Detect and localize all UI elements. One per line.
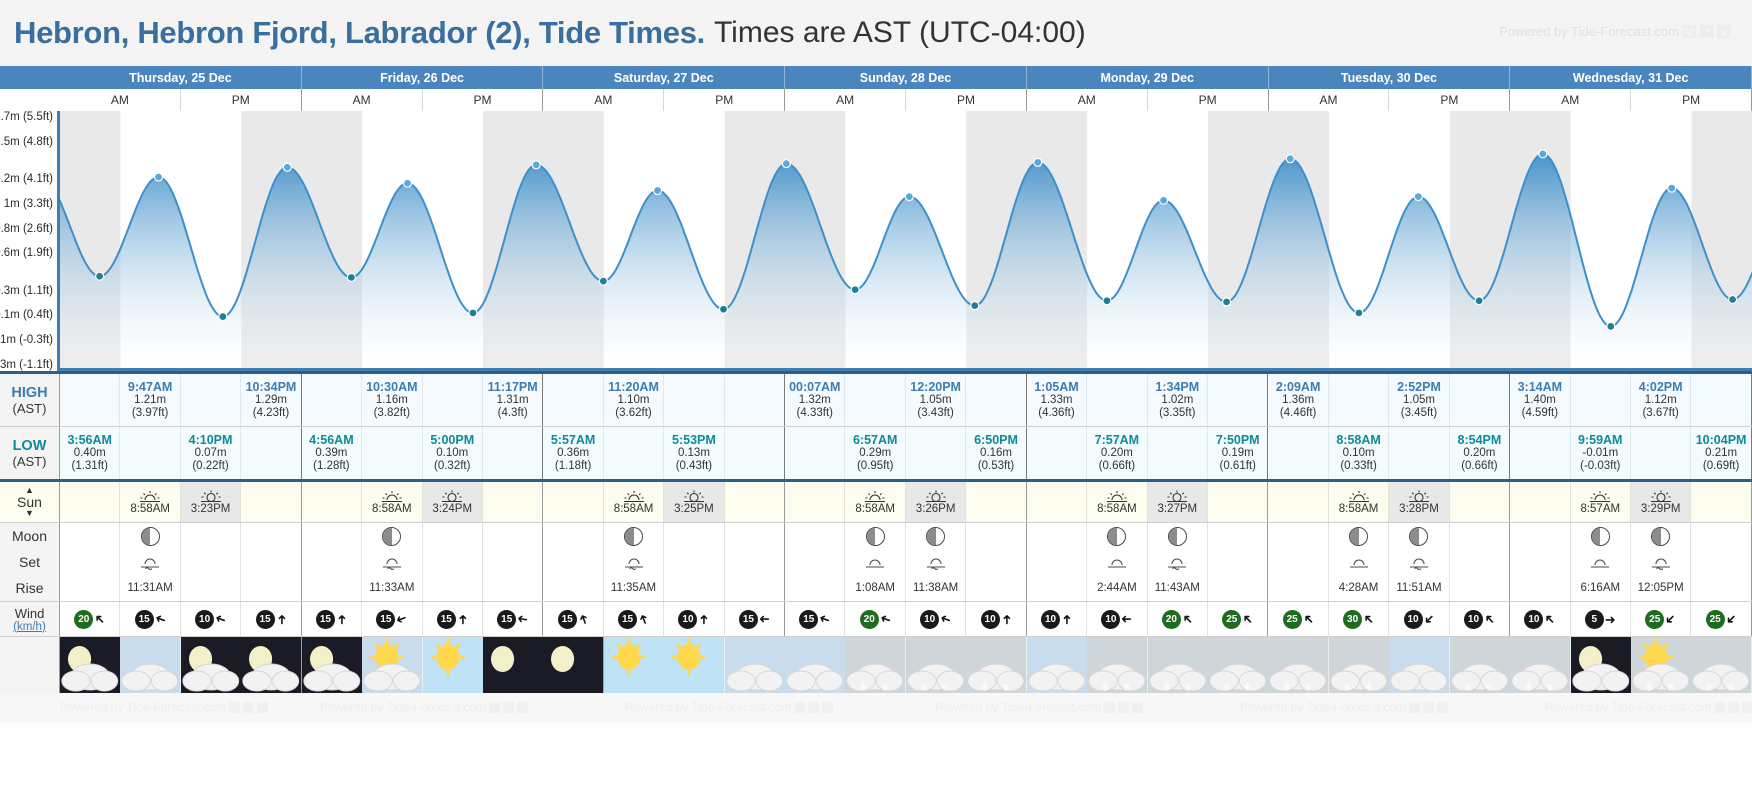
moon-phase-icon: [1409, 527, 1428, 546]
sunrise-time: 8:58AM: [130, 503, 170, 515]
sun-cell-3-3: [966, 482, 1026, 522]
footer-watermark-icon-1: [489, 702, 500, 713]
weather-cell-3-1: ❄❄: [845, 637, 905, 693]
svg-text:❄: ❄: [1304, 681, 1312, 693]
wind-direction-arrow-icon: ➜: [91, 611, 108, 628]
svg-text:❄: ❄: [981, 681, 989, 693]
moon-glyph-cell-4-3: [1208, 549, 1268, 575]
wind-cell-1-0: 15➜: [302, 602, 362, 636]
weather-icon-sunny: [604, 637, 664, 693]
moonrise-time: 2:44AM: [1097, 582, 1137, 594]
moon-phase-cell-0-3: [241, 523, 301, 549]
high-height-m: 1.32m: [799, 394, 831, 407]
sun-cell-5-0: [1268, 482, 1328, 522]
wind-cell-0-2: 10➜: [181, 602, 241, 636]
wind-cell-5-2: 10➜: [1389, 602, 1449, 636]
moon-phase-cell-3-0: [785, 523, 845, 549]
svg-text:❄: ❄: [1464, 681, 1472, 693]
low-cell-3-1: 6:57AM0.29m(0.95ft): [845, 427, 905, 479]
weather-icon-snow: ❄❄: [1450, 637, 1510, 693]
weather-icon-partly-cloudy: [362, 637, 422, 693]
low-cell-4-1: 7:57AM0.20m(0.66ft): [1087, 427, 1147, 479]
tide-high-marker-9: [654, 187, 662, 195]
svg-text:❄: ❄: [881, 681, 889, 693]
weather-cell-2-2: [664, 637, 724, 693]
weather-icon-night-cloudy: [1571, 637, 1631, 693]
high-height-m: 1.10m: [618, 394, 650, 407]
moon-phase-cell-5-1: [1329, 523, 1389, 549]
sun-cell-1-0: [302, 482, 362, 522]
moon-phase-cell-2-3: [725, 523, 785, 549]
moon-glyph-cell-3-1: [845, 549, 905, 575]
ampm-cell-3-pm: PM: [906, 89, 1027, 111]
low-cell-4-3: 7:50PM0.19m(0.61ft): [1208, 427, 1268, 479]
weather-cell-4-2: ❄❄: [1148, 637, 1208, 693]
low-time: 3:56AM: [67, 433, 111, 447]
high-height-ft: (4.36ft): [1038, 407, 1074, 420]
high-tide-cells: 9:47AM1.21m(3.97ft)10:34PM1.29m(4.23ft)1…: [60, 374, 1752, 426]
weather-icon-snow: ❄❄: [1691, 637, 1751, 693]
high-tide-label: HIGH (AST): [0, 374, 60, 426]
moon-label-text: Moon: [12, 528, 47, 544]
moon-time-cell-4-2: 11:43AM: [1148, 575, 1208, 601]
moon-glyph-cell-6-3: [1691, 549, 1751, 575]
svg-text:❄: ❄: [1162, 681, 1170, 693]
footer-watermark-2: Powered by Tide-Forecast.com: [625, 700, 833, 714]
high-height-ft: (3.35ft): [1159, 407, 1195, 420]
tide-low-marker-4: [347, 273, 355, 281]
sun-cell-1-1: 8:58AM: [362, 482, 422, 522]
weather-icon-cloudy: [120, 637, 180, 693]
sunset-time: 3:24PM: [432, 503, 472, 515]
wind-speed-badge: 10: [981, 610, 1000, 629]
low-cell-1-3: [483, 427, 543, 479]
low-height-m: 0.10m: [436, 447, 468, 460]
high-label-tz: (AST): [13, 401, 47, 416]
weather-icon-sunny: [664, 637, 724, 693]
high-height-m: 1.05m: [920, 394, 952, 407]
ampm-cell-4-am: AM: [1027, 89, 1148, 111]
wind-speed-badge: 15: [497, 610, 516, 629]
moon-time-cell-1-2: [423, 575, 483, 601]
sunrise-icon: [864, 490, 886, 503]
moon-phase-icon: [1651, 527, 1670, 546]
low-height-m: 0.36m: [557, 447, 589, 460]
moonset-icon: [624, 555, 644, 570]
moon-glyph-cell-5-1: [1329, 549, 1389, 575]
wind-cell-4-0: 10➜: [1027, 602, 1087, 636]
sun-cell-0-2: 3:23PM: [181, 482, 241, 522]
weather-cell-1-2: [423, 637, 483, 693]
low-cell-1-0: 4:56AM0.39m(1.28ft): [302, 427, 362, 479]
moon-glyph-cell-5-3: [1450, 549, 1510, 575]
wind-unit-link[interactable]: (km/h): [13, 621, 46, 633]
low-height-ft: (0.33ft): [1340, 460, 1376, 473]
moonrise-time: 4:28AM: [1339, 582, 1379, 594]
tide-low-marker-6: [469, 309, 477, 317]
wind-cell-2-2: 10➜: [664, 602, 724, 636]
high-cell-4-2: 1:34PM1.02m(3.35ft): [1148, 374, 1208, 426]
wind-direction-arrow-icon: ➜: [213, 611, 228, 627]
low-cell-4-0: [1027, 427, 1087, 479]
sunrise-icon: [381, 490, 403, 503]
wind-direction-arrow-icon: ➜: [394, 611, 409, 627]
moon-glyph-cell-6-0: [1510, 549, 1570, 575]
low-tide-label: LOW (AST): [0, 427, 60, 479]
sun-cell-0-0: [60, 482, 120, 522]
wind-speed-badge: 10: [1041, 610, 1060, 629]
sun-cell-0-1: 8:58AM: [120, 482, 180, 522]
low-label-tz: (AST): [13, 454, 47, 469]
svg-text:❄: ❄: [1343, 681, 1351, 693]
sun-cell-2-2: 3:25PM: [664, 482, 724, 522]
svg-text:❄: ❄: [1002, 681, 1010, 693]
moon-phase-icon: [866, 527, 885, 546]
day-headers: Thursday, 25 DecFriday, 26 DecSaturday, …: [60, 66, 1752, 89]
moonset-time: 11:38AM: [913, 582, 958, 594]
footer-watermark-icon-2: [808, 702, 819, 713]
wind-cell-1-1: 15➜: [362, 602, 422, 636]
chart-plot-area: [60, 111, 1752, 371]
wind-direction-arrow-icon: ➜: [1723, 611, 1740, 628]
sunrise-icon: [139, 490, 161, 503]
tide-high-marker-25: [1668, 184, 1676, 192]
high-height-ft: (3.82ft): [374, 407, 410, 420]
low-cell-1-2: 5:00PM0.10m(0.32ft): [423, 427, 483, 479]
wind-cell-2-0: 15➜: [543, 602, 603, 636]
high-time: 9:47AM: [128, 380, 172, 394]
wind-cell-1-3: 15➜: [483, 602, 543, 636]
moon-glyph-cell-1-3: [483, 549, 543, 575]
weather-cell-5-2: [1389, 637, 1449, 693]
wind-speed-badge: 20: [1162, 610, 1181, 629]
weather-cell-1-1: [362, 637, 422, 693]
weather-icon-partly-cloudy-snow: ❄❄: [1631, 637, 1691, 693]
moon-phase-cell-3-2: [906, 523, 966, 549]
high-time: 2:52PM: [1397, 380, 1441, 394]
high-height-ft: (4.23ft): [253, 407, 289, 420]
footer-watermark-text: Powered by Tide-Forecast.com: [60, 700, 226, 714]
footer-watermark-1: Powered by Tide-Forecast.com: [320, 700, 528, 714]
wind-direction-arrow-icon: ➜: [1179, 611, 1196, 628]
moon-phase-icon: [1349, 527, 1368, 546]
footer-watermark-text: Powered by Tide-Forecast.com: [1240, 700, 1406, 714]
footer-watermark-icon-1: [1409, 702, 1420, 713]
low-cell-2-2: 5:53PM0.13m(0.43ft): [664, 427, 724, 479]
low-time: 7:50PM: [1216, 433, 1260, 447]
tide-chart: 1.7m (5.5ft)1.5m (4.8ft)1.2m (4.1ft)1m (…: [0, 111, 1752, 371]
ampm-cell-1-pm: PM: [423, 89, 544, 111]
high-cell-0-3: 10:34PM1.29m(4.23ft): [241, 374, 301, 426]
tide-low-marker-0: [96, 272, 104, 280]
low-height-ft: (1.31ft): [71, 460, 107, 473]
low-time: 4:56AM: [309, 433, 353, 447]
tide-high-marker-5: [403, 179, 411, 187]
low-height-m: 0.39m: [315, 447, 347, 460]
moonrise-icon: [1349, 555, 1369, 570]
tide-high-marker-13: [905, 193, 913, 201]
day-header-4: Monday, 29 Dec: [1027, 66, 1269, 89]
high-cell-2-2: [664, 374, 724, 426]
wind-direction-arrow-icon: ➜: [274, 614, 287, 625]
sun-cell-6-3: [1691, 482, 1751, 522]
moon-time-cell-2-1: 11:35AM: [604, 575, 664, 601]
sun-label-text: Sun: [17, 495, 42, 509]
tide-high-marker-7: [532, 161, 540, 169]
tide-low-marker-10: [720, 305, 728, 313]
day-header-1: Friday, 26 Dec: [302, 66, 544, 89]
weather-cell-4-1: ❄❄: [1087, 637, 1147, 693]
moonset-time: 11:43AM: [1155, 582, 1200, 594]
wind-cell-6-0: 10➜: [1510, 602, 1570, 636]
moon-glyph-cell-3-3: [966, 549, 1026, 575]
low-height-m: 0.20m: [1463, 447, 1495, 460]
y-tick-label-0: 1.7m (5.5ft): [0, 111, 53, 123]
high-cell-1-1: 10:30AM1.16m(3.82ft): [362, 374, 422, 426]
moonrise-time: 1:08AM: [855, 582, 895, 594]
moon-phase-cell-6-0: [1510, 523, 1570, 549]
sun-cell-0-3: [241, 482, 301, 522]
svg-text:❄: ❄: [1645, 681, 1653, 693]
moon-phase-cell-2-0: [543, 523, 603, 549]
wind-direction-arrow-icon: ➜: [1060, 614, 1073, 625]
high-height-ft: (3.45ft): [1401, 407, 1437, 420]
low-cell-5-0: [1268, 427, 1328, 479]
wind-speed-badge: 15: [437, 610, 456, 629]
moon-phase-cell-6-3: [1691, 523, 1751, 549]
low-cell-5-3: 8:54PM0.20m(0.66ft): [1450, 427, 1510, 479]
moon-time-cell-4-1: 2:44AM: [1087, 575, 1147, 601]
moonrise-time: 6:16AM: [1580, 582, 1620, 594]
moon-time-cell-1-3: [483, 575, 543, 601]
low-height-ft: (0.66ft): [1099, 460, 1135, 473]
footer-watermark-icon-1: [794, 702, 805, 713]
low-height-m: 0.19m: [1222, 447, 1254, 460]
moon-phase-cell-4-1: [1087, 523, 1147, 549]
svg-text:❄: ❄: [1183, 681, 1191, 693]
sunset-time: 3:23PM: [191, 503, 231, 515]
high-cell-1-0: [302, 374, 362, 426]
wind-cell-0-0: 20➜: [60, 602, 120, 636]
moon-phase-cell-1-0: [302, 523, 362, 549]
moon-phase-icon: [926, 527, 945, 546]
wind-speed-badge: 10: [1101, 610, 1120, 629]
weather-cell-6-0: ❄❄: [1510, 637, 1570, 693]
high-height-m: 1.12m: [1645, 394, 1677, 407]
footer-watermark-3: Powered by Tide-Forecast.com: [935, 700, 1143, 714]
footer-watermark-icon-1: [1714, 702, 1725, 713]
sun-cell-2-1: 8:58AM: [604, 482, 664, 522]
footer-watermarks: Powered by Tide-Forecast.comPowered by T…: [0, 693, 1752, 723]
wind-cell-2-1: 15➜: [604, 602, 664, 636]
moon-glyph-cell-1-0: [302, 549, 362, 575]
low-cell-5-2: [1389, 427, 1449, 479]
high-height-m: 1.36m: [1282, 394, 1314, 407]
moon-phase-cell-4-2: [1148, 523, 1208, 549]
moon-glyph-cell-0-1: [120, 549, 180, 575]
weather-icon-cloudy: [1389, 637, 1449, 693]
weather-icon-snow: ❄❄: [1148, 637, 1208, 693]
footer-watermark-text: Powered by Tide-Forecast.com: [320, 700, 486, 714]
high-height-ft: (3.62ft): [615, 407, 651, 420]
moon-label: Moon: [0, 523, 60, 549]
page-title: Hebron, Hebron Fjord, Labrador (2), Tide…: [14, 15, 705, 51]
tide-high-marker-11: [782, 160, 790, 168]
wind-speed-badge: 10: [920, 610, 939, 629]
weather-icon-night-partly-cloudy: [181, 637, 241, 693]
moon-glyph-cell-2-2: [664, 549, 724, 575]
moon-glyph-cell-0-0: [60, 549, 120, 575]
moon-time-cell-4-3: [1208, 575, 1268, 601]
moon-time-cell-5-1: 4:28AM: [1329, 575, 1389, 601]
tide-low-marker-14: [971, 302, 979, 310]
high-cell-6-2: 4:02PM1.12m(3.67ft): [1631, 374, 1691, 426]
moon-phase-icon: [1591, 527, 1610, 546]
moonset-icon: [1167, 555, 1187, 570]
wind-speed-badge: 25: [1706, 610, 1725, 629]
high-height-m: 1.05m: [1403, 394, 1435, 407]
weather-cell-0-3: [241, 637, 301, 693]
moonrise-icon: [1107, 555, 1127, 570]
weather-icon-night-clear: [483, 637, 543, 693]
sunset-icon: [1166, 490, 1188, 503]
low-height-m: 0.40m: [74, 447, 106, 460]
wind-row: Wind (km/h) 20➜15➜10➜15➜15➜15➜15➜15➜15➜1…: [0, 601, 1752, 637]
wind-direction-arrow-icon: ➜: [335, 614, 348, 625]
tide-high-marker-23: [1539, 150, 1547, 158]
high-time: 1:34PM: [1155, 380, 1199, 394]
moon-times-row: Rise 11:31AM11:33AM11:35AM1:08AM11:38AM2…: [0, 575, 1752, 601]
ampm-cell-5-am: AM: [1269, 89, 1390, 111]
y-tick-label-5: 0.6m (1.9ft): [0, 247, 53, 259]
sunrise-icon: [1106, 490, 1128, 503]
weather-cell-1-3: [483, 637, 543, 693]
moon-glyph-cell-2-1: [604, 549, 664, 575]
weather-cells: ❄❄❄❄❄❄❄❄❄❄❄❄❄❄❄❄❄❄❄❄❄❄❄❄: [60, 637, 1752, 693]
low-height-ft: (-0.03ft): [1580, 460, 1620, 473]
moon-phase-cell-1-3: [483, 523, 543, 549]
sunset-time: 3:27PM: [1157, 503, 1197, 515]
low-cell-4-2: [1148, 427, 1208, 479]
wind-cell-6-2: 25➜: [1631, 602, 1691, 636]
moon-time-cell-0-1: 11:31AM: [120, 575, 180, 601]
weather-cell-4-0: [1027, 637, 1087, 693]
moonset-icon: [926, 555, 946, 570]
high-cell-0-2: [181, 374, 241, 426]
tide-low-marker-2: [219, 313, 227, 321]
high-time: 12:20PM: [910, 380, 961, 394]
moonrise-icon: [1590, 555, 1610, 570]
weather-cell-0-1: [120, 637, 180, 693]
watermark-icon-3: ▲: [1717, 25, 1730, 38]
tide-high-marker-1: [154, 173, 162, 181]
weather-cell-2-1: [604, 637, 664, 693]
low-height-m: 0.10m: [1343, 447, 1375, 460]
high-height-ft: (3.43ft): [917, 407, 953, 420]
low-cell-3-0: [785, 427, 845, 479]
moon-time-cell-6-2: 12:05PM: [1631, 575, 1691, 601]
high-height-m: 1.33m: [1040, 394, 1072, 407]
tide-low-marker-16: [1103, 297, 1111, 305]
high-cell-3-3: [966, 374, 1026, 426]
tide-low-marker-12: [851, 286, 859, 294]
high-cell-1-3: 11:17PM1.31m(4.3ft): [483, 374, 543, 426]
moon-phase-cell-3-3: [966, 523, 1026, 549]
sunrise-icon: [623, 490, 645, 503]
high-time: 1:05AM: [1034, 380, 1078, 394]
wind-cell-3-2: 10➜: [906, 602, 966, 636]
svg-text:❄: ❄: [920, 681, 928, 693]
moon-glyph-cell-0-3: [241, 549, 301, 575]
moon-phase-row: Moon: [0, 523, 1752, 549]
weather-icon-snow: ❄❄: [1510, 637, 1570, 693]
low-cell-3-2: [906, 427, 966, 479]
wind-direction-arrow-icon: ➜: [1300, 611, 1317, 628]
sun-cell-5-1: 8:58AM: [1329, 482, 1389, 522]
moon-time-cell-2-3: [725, 575, 785, 601]
footer-watermark-text: Powered by Tide-Forecast.com: [935, 700, 1101, 714]
moon-time-cell-0-2: [181, 575, 241, 601]
wind-speed-badge: 15: [618, 610, 637, 629]
low-height-m: 0.16m: [980, 447, 1012, 460]
wind-label: Wind (km/h): [0, 602, 60, 636]
moon-phase-cell-4-0: [1027, 523, 1087, 549]
sun-label: ▲ Sun ▼: [0, 482, 60, 522]
low-time: 5:00PM: [430, 433, 474, 447]
tide-high-marker-17: [1160, 196, 1168, 204]
low-cell-6-3: 10:04PM0.21m(0.69ft): [1691, 427, 1751, 479]
low-label-text: LOW: [13, 438, 47, 454]
footer-watermark-icon-2: [1118, 702, 1129, 713]
day-header-spacer: [0, 66, 60, 89]
low-cell-2-3: [725, 427, 785, 479]
high-cell-4-0: 1:05AM1.33m(4.36ft): [1027, 374, 1087, 426]
low-height-m: 0.29m: [859, 447, 891, 460]
moon-glyph-cell-4-1: [1087, 549, 1147, 575]
low-height-m: 0.07m: [195, 447, 227, 460]
wind-cells: 20➜15➜10➜15➜15➜15➜15➜15➜15➜15➜10➜15➜15➜2…: [60, 602, 1752, 636]
wind-label-text: Wind: [15, 606, 45, 621]
y-tick-label-9: -0.3m (-1.1ft): [0, 359, 53, 371]
wind-cell-4-3: 25➜: [1208, 602, 1268, 636]
low-cell-0-2: 4:10PM0.07m(0.22ft): [181, 427, 241, 479]
sun-cell-3-1: 8:58AM: [845, 482, 905, 522]
wind-direction-arrow-icon: ➜: [1481, 611, 1498, 628]
wind-cell-4-2: 20➜: [1148, 602, 1208, 636]
low-height-m: -0.01m: [1582, 447, 1618, 460]
low-cell-2-0: 5:57AM0.36m(1.18ft): [543, 427, 603, 479]
high-time: 11:17PM: [488, 380, 538, 394]
weather-cell-2-3: [725, 637, 785, 693]
wind-cell-6-3: 25➜: [1691, 602, 1751, 636]
wind-speed-badge: 10: [195, 610, 214, 629]
low-height-m: 0.20m: [1101, 447, 1133, 460]
moon-phase-cell-1-1: [362, 523, 422, 549]
high-cell-4-3: [1208, 374, 1268, 426]
sun-cell-4-2: 3:27PM: [1148, 482, 1208, 522]
sun-label-stack: ▲ Sun ▼: [17, 486, 42, 518]
sun-cell-1-2: 3:24PM: [423, 482, 483, 522]
weather-icon-sunny: [423, 637, 483, 693]
sun-cell-6-0: [1510, 482, 1570, 522]
high-label-text: HIGH: [11, 385, 47, 401]
ampm-cell-2-pm: PM: [664, 89, 785, 111]
low-cell-0-0: 3:56AM0.40m(1.31ft): [60, 427, 120, 479]
wind-speed-badge: 15: [135, 610, 154, 629]
svg-text:❄: ❄: [1667, 681, 1675, 693]
moon-rise-label: Rise: [0, 575, 60, 601]
high-cell-6-3: [1691, 374, 1751, 426]
